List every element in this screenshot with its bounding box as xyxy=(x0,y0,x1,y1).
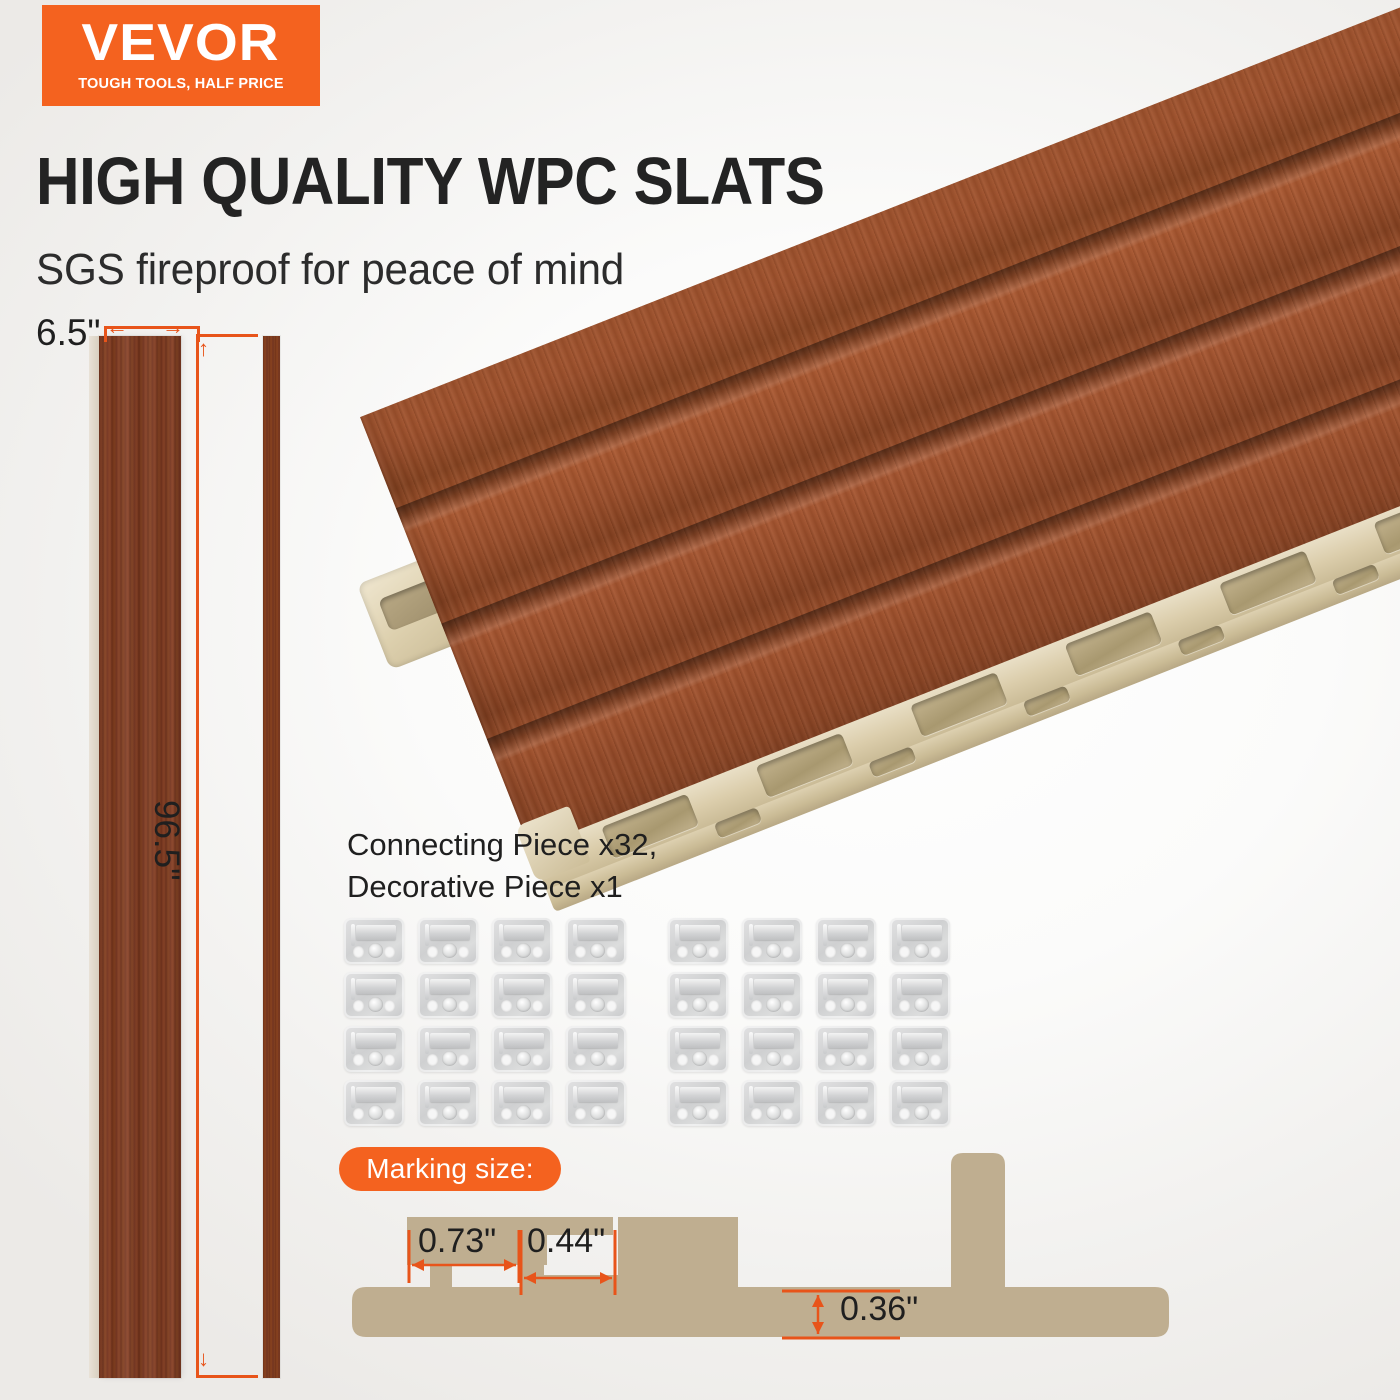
rib-width-label: 0.73" xyxy=(418,1222,496,1261)
base-thickness-label: 0.36" xyxy=(840,1290,918,1329)
profile-left-leg xyxy=(430,1265,452,1303)
profile-right-block xyxy=(618,1217,738,1287)
profile-cross-section xyxy=(0,0,1400,1400)
gap-width-label: 0.44" xyxy=(527,1222,605,1261)
infographic-canvas: VEVOR TOUGH TOOLS, HALF PRICE HIGH QUALI… xyxy=(0,0,1400,1400)
